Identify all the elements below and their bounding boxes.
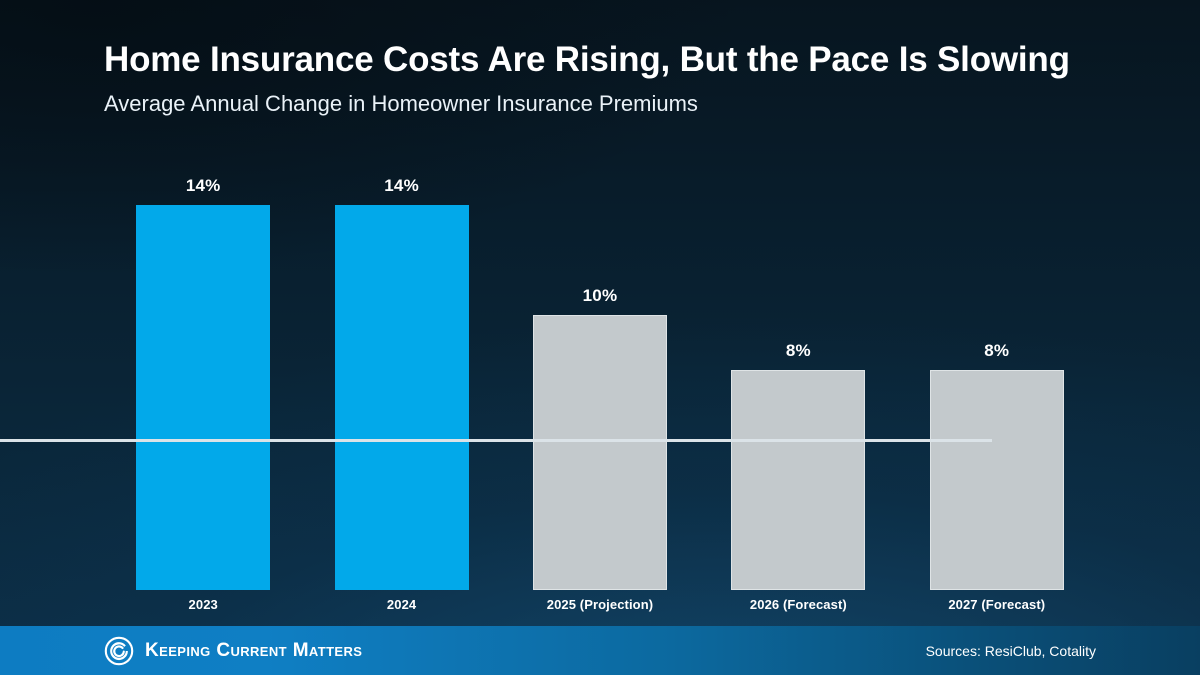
header: Home Insurance Costs Are Rising, But the… [104, 40, 1144, 118]
sources-note: Sources: ResiClub, Cotality [926, 643, 1096, 659]
bar-2027-forecast[interactable] [930, 370, 1064, 590]
swirl-circle-logo-icon [104, 636, 134, 666]
page-subtitle: Average Annual Change in Homeowner Insur… [104, 91, 1144, 117]
bar-value-label: 14% [302, 176, 500, 196]
bar-2023[interactable] [136, 205, 270, 590]
bar-2025-projection[interactable] [533, 315, 667, 590]
bar-value-label: 8% [898, 341, 1096, 361]
x-axis-tick-labels: 202320242025 (Projection)2026 (Forecast)… [104, 597, 1096, 612]
bar-slot: 14% [104, 150, 302, 590]
slide-canvas: Home Insurance Costs Are Rising, But the… [0, 0, 1200, 675]
bar-value-label: 10% [501, 286, 699, 306]
bar-2026-forecast[interactable] [731, 370, 865, 590]
bar-slot: 14% [302, 150, 500, 590]
chart-plot-area: 14%14%10%8%8% [104, 150, 1096, 590]
x-axis-label: 2023 [104, 597, 302, 612]
x-axis-label: 2027 (Forecast) [898, 597, 1096, 612]
bar-slot: 8% [898, 150, 1096, 590]
footer-bar: Keeping Current Matters Sources: ResiClu… [0, 626, 1200, 675]
x-axis-line [0, 439, 992, 442]
brand-name: Keeping Current Matters [145, 640, 362, 662]
bar-chart: 14%14%10%8%8% [104, 150, 1096, 590]
bar-slot: 10% [501, 150, 699, 590]
bar-slot: 8% [699, 150, 897, 590]
bar-value-label: 14% [104, 176, 302, 196]
x-axis-label: 2025 (Projection) [501, 597, 699, 612]
x-axis-label: 2026 (Forecast) [699, 597, 897, 612]
x-axis-label: 2024 [302, 597, 500, 612]
bar-2024[interactable] [335, 205, 469, 590]
bar-value-label: 8% [699, 341, 897, 361]
page-title: Home Insurance Costs Are Rising, But the… [104, 40, 1144, 79]
brand-lockup[interactable]: Keeping Current Matters [104, 636, 362, 666]
